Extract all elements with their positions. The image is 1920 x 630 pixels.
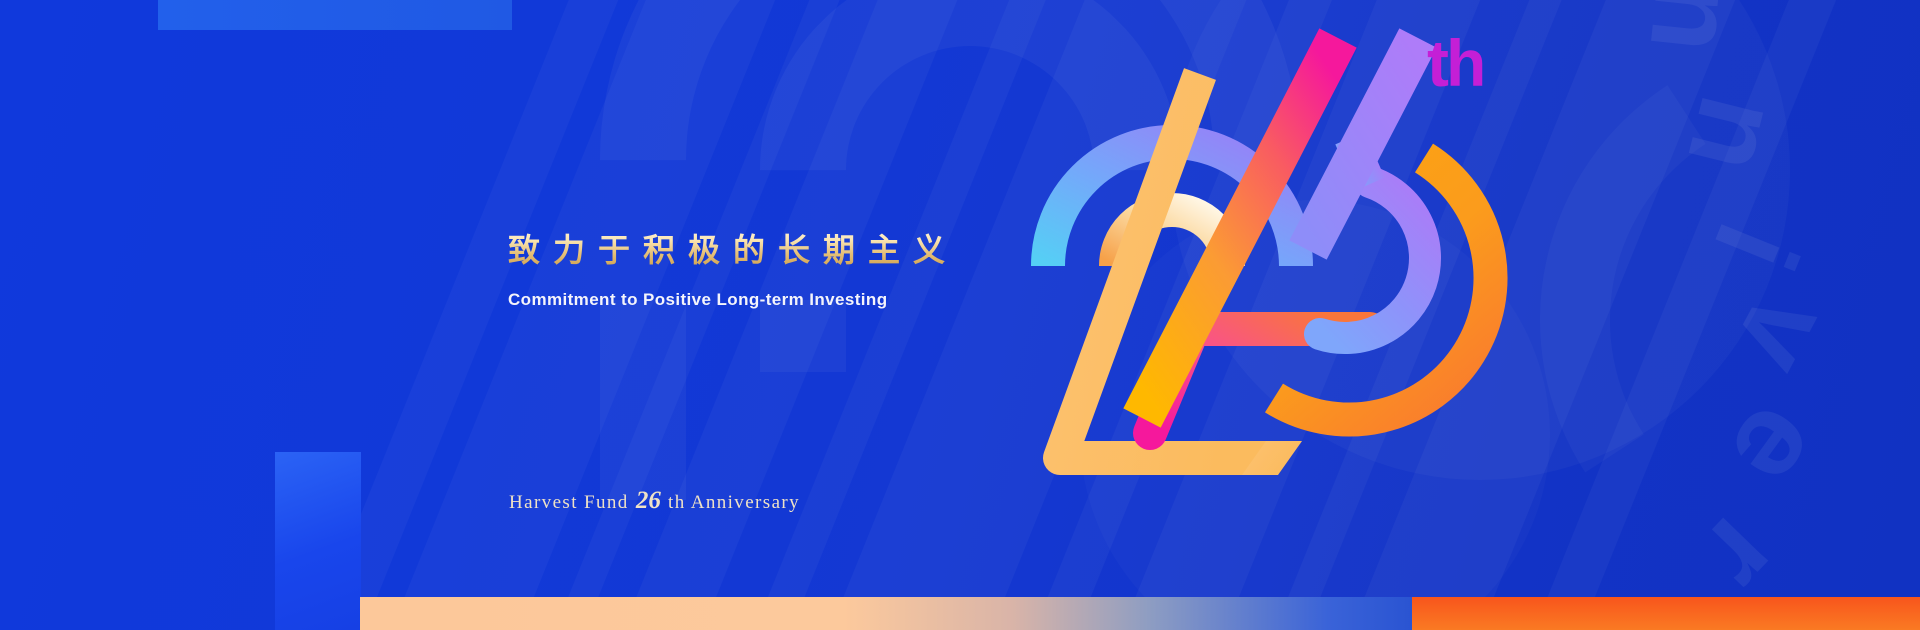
headline-block: 致力于积极的长期主义 Commitment to Positive Long-t…: [508, 225, 1028, 310]
watermark-letter: v: [1708, 277, 1852, 401]
stripe: [428, 0, 935, 630]
anniversary-banner: n n i v e r 致力于积极的长期主义 Commitment to Pos…: [0, 0, 1920, 630]
bottom-gradient-accent-bar: [360, 597, 1412, 630]
headline-english: Commitment to Positive Long-term Investi…: [508, 290, 1028, 310]
ghost-stem-inner: [760, 300, 846, 372]
watermark-nniver: n n i v e r: [1614, 0, 1920, 630]
signature-number: 26: [635, 487, 662, 514]
watermark-letter: n: [1628, 0, 1759, 69]
logo-th-superscript: th: [1427, 30, 1483, 96]
signature-line: Harvest Fund 26 th Anniversary: [509, 487, 800, 515]
headline-chinese: 致力于积极的长期主义: [508, 225, 1028, 271]
stripe: [189, 0, 713, 630]
ghost-ring-right: [1488, 0, 1920, 630]
top-left-accent-bar: [158, 0, 512, 30]
left-vertical-accent-bar: [275, 452, 361, 630]
ghost-stem-left: [600, 300, 686, 500]
signature-prefix: Harvest Fund: [509, 492, 629, 513]
bottom-orange-accent-bar: [1412, 597, 1920, 630]
watermark-letter: i: [1688, 209, 1818, 295]
anniversary-logo: th: [1020, 18, 1520, 538]
watermark-letter: e: [1702, 385, 1846, 518]
stripe: [500, 0, 1050, 630]
watermark-letter: n: [1664, 85, 1803, 194]
signature-suffix: th Anniversary: [668, 492, 800, 513]
